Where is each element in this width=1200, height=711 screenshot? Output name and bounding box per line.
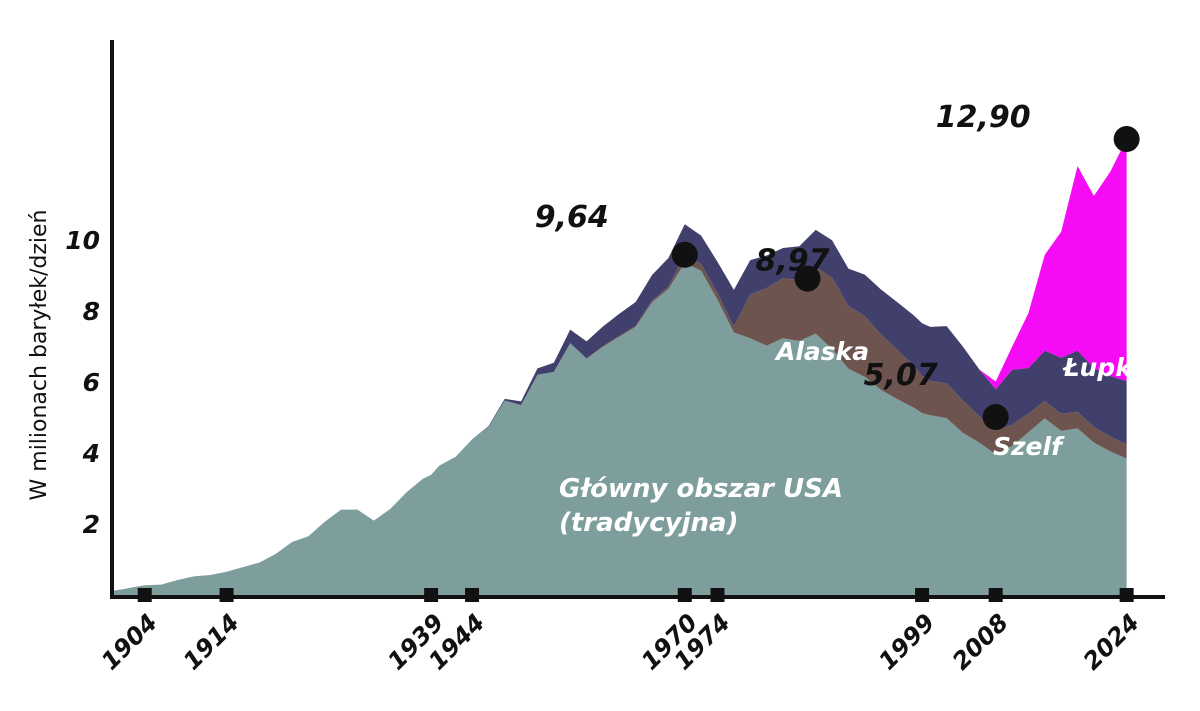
y-tick-labels: 246810 <box>65 226 100 539</box>
x-tick-label: 1999 <box>873 608 940 675</box>
x-tick-label: 1914 <box>178 608 245 675</box>
annotation-marker-dot <box>1114 126 1140 152</box>
x-tick-label: 2008 <box>947 608 1014 675</box>
series-label-alaska: Alaska <box>774 337 869 366</box>
series-label-line: Łupki <box>1062 353 1141 382</box>
series-label-shelf: Szelf <box>993 432 1065 461</box>
y-tick-label: 10 <box>65 226 100 255</box>
x-tick-mark <box>424 588 438 602</box>
series-label-line: Główny obszar USA <box>559 474 843 504</box>
annotation-value-label: 9,64 <box>535 200 609 235</box>
series-label-line: Szelf <box>993 432 1065 461</box>
series-label-shale: Łupki <box>1062 353 1141 382</box>
y-tick-label: 2 <box>83 510 100 539</box>
x-tick-mark <box>711 588 725 602</box>
x-tick-mark <box>220 588 234 602</box>
annotation-marker-dot <box>672 242 698 268</box>
x-tick-label: 1904 <box>96 608 163 675</box>
oil-production-stacked-area-chart: 246810 190419141939194419701974199920082… <box>0 0 1200 711</box>
y-tick-label: 4 <box>82 439 100 468</box>
annotation-value-label: 8,97 <box>755 244 829 279</box>
x-tick-mark <box>1120 588 1134 602</box>
x-tick-mark <box>465 588 479 602</box>
annotation-marker-dot <box>983 404 1009 430</box>
x-tick-mark <box>989 588 1003 602</box>
x-tick-labels: 190419141939194419701974199920082024 <box>96 608 1145 675</box>
series-label-line: (tradycyjna) <box>559 508 738 538</box>
x-tick-mark <box>915 588 929 602</box>
y-tick-label: 8 <box>83 297 100 326</box>
y-axis-title: W milionach baryłek/dzień <box>27 210 52 501</box>
series-label-line: Alaska <box>774 337 869 366</box>
annotation-value-label: 5,07 <box>864 358 938 393</box>
x-tick-label: 2024 <box>1078 608 1145 675</box>
x-tick-mark <box>138 588 152 602</box>
y-axis-title-label: W milionach baryłek/dzień <box>27 210 52 501</box>
annotation-value-label: 12,90 <box>936 100 1031 135</box>
x-tick-mark <box>678 588 692 602</box>
y-tick-label: 6 <box>83 368 100 397</box>
chart-container: 246810 190419141939194419701974199920082… <box>0 0 1200 711</box>
